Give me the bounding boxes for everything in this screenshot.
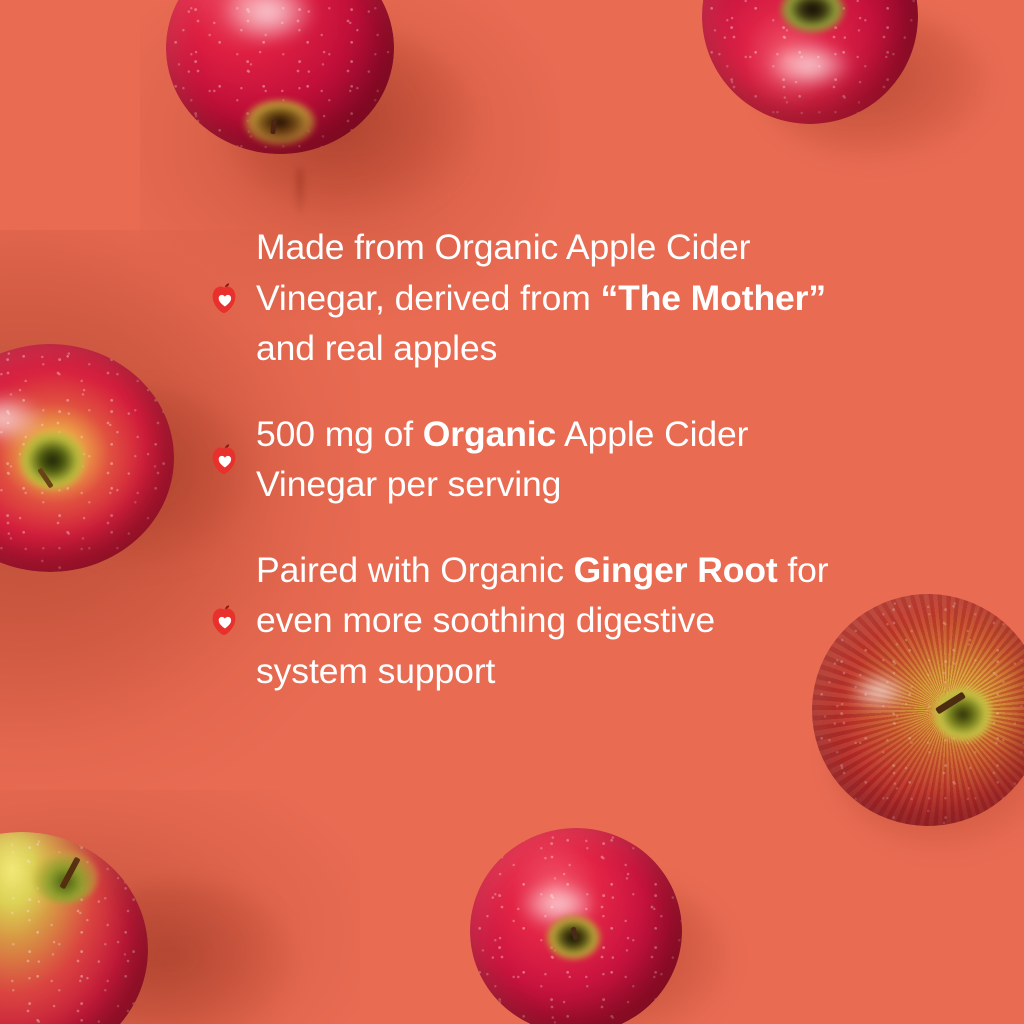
apple-heart-icon	[210, 443, 240, 475]
list-item: Made from Organic Apple Cider Vinegar, d…	[210, 222, 830, 374]
list-item: 500 mg of Organic Apple Cider Vinegar pe…	[210, 409, 830, 510]
product-benefits-graphic: Made from Organic Apple Cider Vinegar, d…	[0, 0, 1024, 1024]
apple-bottom-center	[470, 828, 682, 1024]
list-item-text: Made from Organic Apple Cider Vinegar, d…	[256, 222, 830, 374]
apple-top-left-stem-shadow	[294, 168, 306, 214]
apple-heart-icon	[210, 282, 240, 314]
benefits-list: Made from Organic Apple Cider Vinegar, d…	[210, 222, 830, 696]
apple-heart-icon	[210, 604, 240, 636]
list-item: Paired with Organic Ginger Root for even…	[210, 545, 830, 697]
list-item-text: 500 mg of Organic Apple Cider Vinegar pe…	[256, 409, 830, 510]
list-item-text: Paired with Organic Ginger Root for even…	[256, 545, 830, 697]
